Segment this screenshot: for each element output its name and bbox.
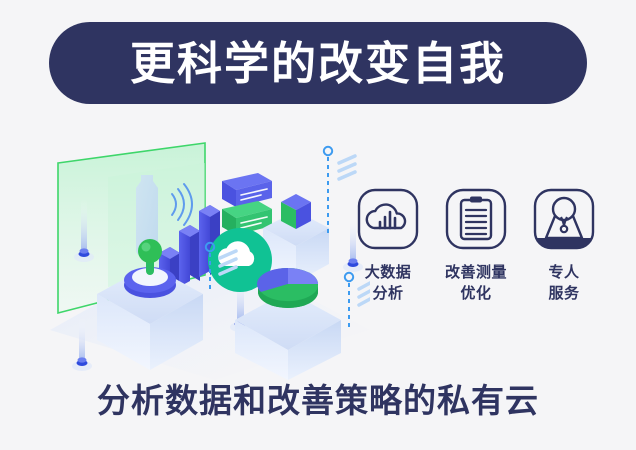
feature-item-dedicated-service[interactable]: 专人 服务	[528, 188, 600, 305]
feature-label: 大数据 分析	[365, 262, 412, 305]
isometric-data-platform-illustration	[40, 125, 370, 380]
pie-chart-3d	[257, 268, 318, 308]
feature-item-measure-optimize[interactable]: 改善测量 优化	[440, 188, 512, 305]
info-card-blue	[222, 173, 272, 207]
cloud-bar-chart-icon	[357, 188, 419, 250]
title-banner: 更科学的改变自我	[49, 22, 587, 104]
feature-item-big-data-analysis[interactable]: 大数据 分析	[352, 188, 424, 305]
page-title: 更科学的改变自我	[130, 41, 506, 86]
poster-canvas: 更科学的改变自我	[0, 0, 636, 450]
tagline: 分析数据和改善策略的私有云	[0, 384, 636, 417]
feature-label: 改善测量 优化	[445, 262, 507, 305]
clipboard-icon	[445, 188, 507, 250]
support-agent-icon	[533, 188, 595, 250]
feature-list: 大数据 分析 改善测量 优化	[352, 188, 600, 305]
feature-label: 专人 服务	[548, 262, 579, 305]
